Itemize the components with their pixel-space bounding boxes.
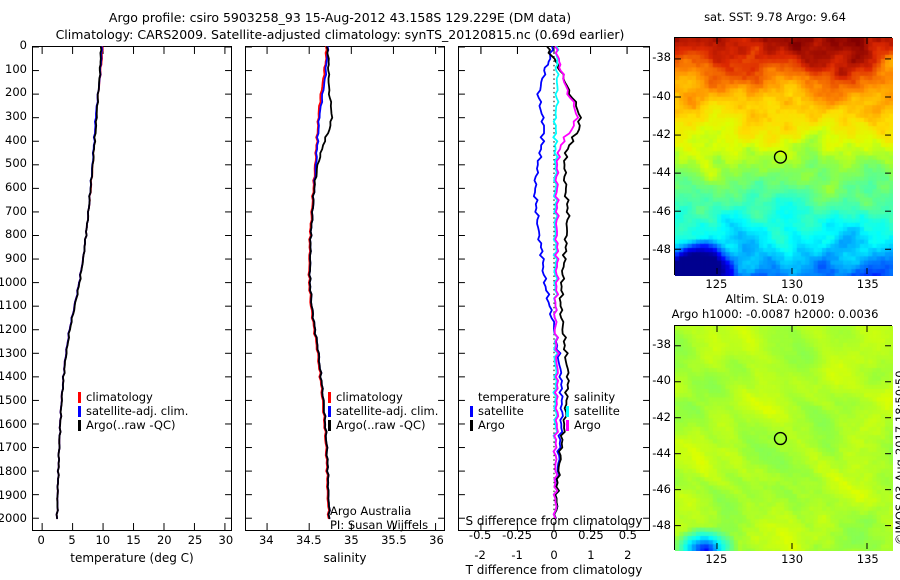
- sla-map: [674, 325, 892, 550]
- sla-lat-label: -48: [652, 518, 671, 532]
- s-difference-tick-label: -0.25: [502, 528, 532, 542]
- sst-map-lon-labels: 125130135: [674, 277, 892, 293]
- sla-map-title-line2: Argo h1000: -0.0087 h2000: 0.0036: [650, 307, 900, 321]
- sla-lat-label: -46: [652, 482, 671, 496]
- legend-color-swatch: [566, 420, 569, 431]
- depth-tick-label: 1700: [0, 440, 27, 454]
- s-difference-tick-label: 0.25: [578, 528, 604, 542]
- legend-header-temperature: temperature: [470, 390, 550, 404]
- temperature-tick-label: 25: [188, 533, 203, 547]
- sla-map-lat-labels: -38-40-42-44-46-48: [648, 325, 674, 550]
- legend-color-swatch: [78, 406, 81, 417]
- depth-tick-label: 1800: [0, 464, 27, 478]
- temperature-tick-label: 30: [219, 533, 234, 547]
- difference-bottom-xaxis-labels: -2-1012: [458, 548, 650, 564]
- legend-label: Argo(..raw -QC): [86, 418, 176, 432]
- sla-lon-label: 135: [857, 552, 879, 566]
- legend-label: satellite: [574, 404, 620, 418]
- sla-map-title-line1: Altim. SLA: 0.019: [655, 292, 895, 306]
- depth-axis-labels: 0100200300400500600700800900100011001200…: [0, 0, 32, 580]
- s-difference-tick-label: 0: [550, 528, 557, 542]
- sla-lon-label: 130: [781, 552, 803, 566]
- temperature-tick-label: 15: [126, 533, 141, 547]
- legend-label: Argo: [478, 418, 505, 432]
- s-difference-tick-label: -0.5: [469, 528, 491, 542]
- temp-diff-legend-item: Argo: [470, 418, 550, 432]
- profile-location-marker: [774, 433, 786, 445]
- legend-label: satellite-adj. clim.: [86, 404, 188, 418]
- temperature-plot: [33, 47, 231, 530]
- sst-lon-label: 125: [705, 277, 727, 291]
- temperature-legend: climatologysatellite-adj. clim.Argo(..ra…: [78, 390, 188, 432]
- depth-tick-label: 700: [5, 204, 27, 218]
- t-difference-tick-label: 1: [587, 548, 594, 562]
- depth-tick-label: 1000: [0, 275, 27, 289]
- temperature-tick-label: 0: [38, 533, 45, 547]
- sal-diff-legend-item: satellite: [566, 404, 620, 418]
- salinity-axis-label: salinity: [245, 551, 445, 565]
- sla-lat-label: -38: [652, 337, 671, 351]
- sst-lat-label: -44: [652, 165, 671, 179]
- legend-color-swatch: [328, 406, 331, 417]
- salinity-tick-label: 36: [429, 533, 444, 547]
- sla-lat-label: -44: [652, 446, 671, 460]
- temperature-tick-label: 5: [68, 533, 75, 547]
- legend-label: satellite-adj. clim.: [336, 404, 438, 418]
- attribution-line2: PI: Susan Wijffels: [330, 518, 428, 532]
- depth-tick-label: 1100: [0, 298, 27, 312]
- sst-lon-label: 130: [781, 277, 803, 291]
- s-difference-tick-label: 0.5: [619, 528, 637, 542]
- depth-tick-label: 100: [5, 62, 27, 76]
- legend-color-swatch: [470, 406, 473, 417]
- legend-header-salinity: salinity: [566, 390, 620, 404]
- difference-profile-panel: [458, 46, 650, 531]
- sst-map: [674, 37, 892, 275]
- t-difference-tick-label: 0: [550, 548, 557, 562]
- legend-label: satellite: [478, 404, 524, 418]
- legend-color-swatch: [566, 406, 569, 417]
- sla-lat-label: -40: [652, 373, 671, 387]
- difference-top-xaxis-labels: -0.5-0.2500.250.5: [458, 528, 650, 544]
- profile-location-marker: [774, 151, 786, 163]
- legend-label: Argo(..raw -QC): [336, 418, 426, 432]
- depth-tick-label: 0: [20, 38, 27, 52]
- attribution-line1: Argo Australia: [330, 504, 428, 518]
- salinity-tick-label: 34.5: [296, 533, 322, 547]
- salinity-legend: climatologysatellite-adj. clim.Argo(..ra…: [328, 390, 438, 432]
- depth-tick-label: 400: [5, 133, 27, 147]
- legend-color-swatch: [78, 392, 81, 403]
- depth-tick-label: 300: [5, 109, 27, 123]
- temperature-legend-item: climatology: [78, 390, 188, 404]
- sla-lon-label: 125: [705, 552, 727, 566]
- temperature-tick-label: 10: [95, 533, 110, 547]
- sla-lat-label: -42: [652, 410, 671, 424]
- temperature-legend-item: satellite-adj. clim.: [78, 404, 188, 418]
- salinity-legend-item: climatology: [328, 390, 438, 404]
- temperature-profile-panel: [32, 46, 232, 531]
- temperature-axis-label: temperature (deg C): [32, 551, 232, 565]
- t-difference-tick-label: -1: [511, 548, 522, 562]
- page-title-line2: Climatology: CARS2009. Satellite-adjuste…: [0, 27, 680, 42]
- sst-lat-label: -38: [652, 50, 671, 64]
- legend-color-swatch: [328, 392, 331, 403]
- sst-map-lat-labels: -38-40-42-44-46-48: [648, 37, 674, 275]
- legend-color-swatch: [470, 420, 473, 431]
- attribution-block: Argo Australia PI: Susan Wijffels: [330, 504, 428, 532]
- sst-lat-label: -42: [652, 127, 671, 141]
- depth-tick-label: 1200: [0, 322, 27, 336]
- difference-legend-salinity: salinity satelliteArgo: [566, 390, 620, 432]
- depth-tick-label: 200: [5, 85, 27, 99]
- temperature-difference-axis-label: T difference from climatology: [458, 563, 650, 577]
- sst-lat-label: -46: [652, 204, 671, 218]
- sal-diff-legend-item: Argo: [566, 418, 620, 432]
- salinity-tick-label: 34: [259, 533, 274, 547]
- depth-tick-label: 800: [5, 227, 27, 241]
- salinity-legend-item: satellite-adj. clim.: [328, 404, 438, 418]
- sst-map-title: sat. SST: 9.78 Argo: 9.64: [655, 10, 895, 24]
- sst-lat-label: -48: [652, 242, 671, 256]
- sla-map-overlay: [675, 326, 891, 549]
- salinity-tick-label: 35.5: [381, 533, 407, 547]
- depth-tick-label: 1400: [0, 369, 27, 383]
- legend-label: Argo: [574, 418, 601, 432]
- temperature-tick-label: 20: [157, 533, 172, 547]
- depth-tick-label: 1300: [0, 346, 27, 360]
- difference-legend-temperature: temperature satelliteArgo: [470, 390, 550, 432]
- legend-label: climatology: [336, 390, 403, 404]
- depth-tick-label: 1500: [0, 393, 27, 407]
- depth-tick-label: 2000: [0, 511, 27, 525]
- salinity-plot: [246, 47, 444, 530]
- temp-diff-legend-item: satellite: [470, 404, 550, 418]
- depth-tick-label: 600: [5, 180, 27, 194]
- sla-map-lon-labels: 125130135: [674, 552, 892, 568]
- salinity-tick-label: 35: [344, 533, 359, 547]
- sst-lon-label: 135: [857, 277, 879, 291]
- temperature-xaxis-labels: 051015202530: [32, 533, 232, 551]
- legend-color-swatch: [328, 420, 331, 431]
- salinity-legend-item: Argo(..raw -QC): [328, 418, 438, 432]
- sst-lat-label: -40: [652, 89, 671, 103]
- depth-tick-label: 900: [5, 251, 27, 265]
- salinity-difference-axis-label: S difference from climatology: [458, 514, 650, 528]
- page-title-line1: Argo profile: csiro 5903258_93 15-Aug-20…: [0, 10, 680, 25]
- legend-label: climatology: [86, 390, 153, 404]
- t-difference-tick-label: 2: [624, 548, 631, 562]
- temperature-legend-item: Argo(..raw -QC): [78, 418, 188, 432]
- difference-plot: [459, 47, 649, 530]
- salinity-profile-panel: [245, 46, 445, 531]
- depth-tick-label: 1600: [0, 417, 27, 431]
- t-difference-tick-label: -2: [474, 548, 485, 562]
- sst-map-overlay: [675, 38, 891, 274]
- imos-credit: ©IMOS 03-Aug-2017 18:50:50: [893, 370, 900, 545]
- legend-color-swatch: [78, 420, 81, 431]
- depth-tick-label: 500: [5, 156, 27, 170]
- salinity-xaxis-labels: 3434.53535.536: [245, 533, 445, 551]
- depth-tick-label: 1900: [0, 488, 27, 502]
